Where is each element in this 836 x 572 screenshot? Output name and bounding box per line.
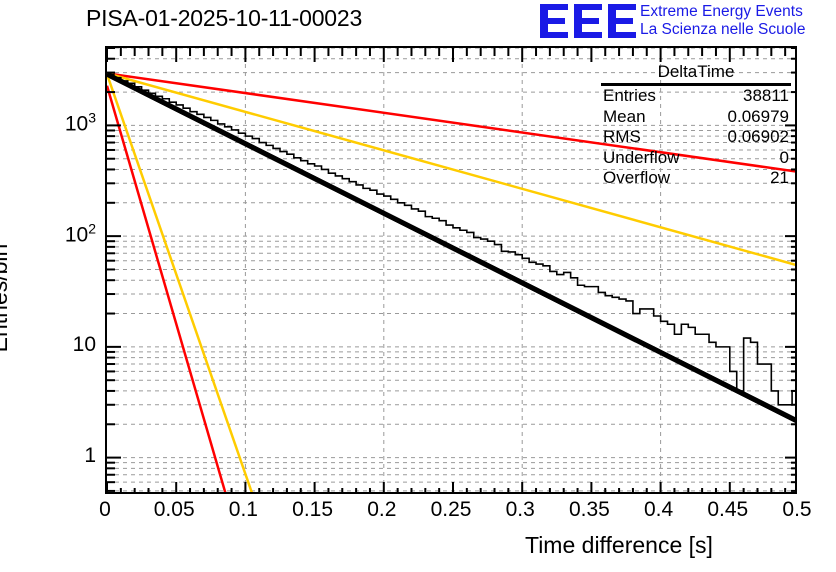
y-tick-mantissa: 10 [65, 224, 88, 247]
stats-row: Entries38811 [601, 86, 791, 107]
stats-key: Mean [603, 107, 646, 128]
x-tick-label: 0.3 [506, 498, 535, 522]
page-title: PISA-01-2025-10-11-00023 [86, 5, 362, 32]
eee-logo-mark [540, 4, 636, 38]
y-tick-mantissa: 10 [65, 113, 88, 136]
stats-value: 0.06979 [728, 107, 789, 128]
eee-logo-text: Extreme Energy Events La Scienza nelle S… [640, 3, 805, 39]
x-tick-label: 0.1 [229, 498, 258, 522]
x-tick-label: 0.4 [644, 498, 673, 522]
stats-row: Underflow0 [601, 148, 791, 169]
stats-value: 21 [770, 168, 789, 189]
x-axis-title: Time difference [s] [525, 532, 713, 559]
x-tick-label: 0 [99, 498, 111, 522]
stats-rows: Entries38811Mean0.06979RMS0.06902Underfl… [601, 86, 791, 189]
x-tick-label: 0.35 [569, 498, 610, 522]
x-tick-label: 0.05 [154, 498, 195, 522]
stats-key: RMS [603, 127, 641, 148]
stats-value: 0.06902 [728, 127, 789, 148]
x-tick-label: 0.5 [782, 498, 811, 522]
y-axis-title: Entries/bin [0, 198, 13, 398]
y-tick-label: 103 [20, 110, 96, 137]
eee-logo-line1: Extreme Energy Events [640, 3, 805, 21]
y-tick-label: 10 [20, 333, 96, 357]
eee-logo-line2: La Scienza nelle Scuole [640, 21, 805, 39]
stats-box: DeltaTime Entries38811Mean0.06979RMS0.06… [601, 62, 791, 189]
stats-row: RMS0.06902 [601, 127, 791, 148]
stats-value: 38811 [743, 86, 789, 107]
y-tick-label: 1 [20, 444, 96, 468]
stats-title: DeltaTime [601, 62, 791, 86]
y-tick-mantissa: 10 [73, 333, 96, 356]
eee-logo: Extreme Energy Events La Scienza nelle S… [540, 2, 836, 42]
stats-row: Mean0.06979 [601, 107, 791, 128]
stats-value: 0 [780, 148, 789, 169]
stats-key: Underflow [603, 148, 680, 169]
x-tick-label: 0.25 [431, 498, 472, 522]
y-tick-exponent: 3 [88, 110, 96, 126]
x-tick-label: 0.2 [367, 498, 396, 522]
stats-key: Overflow [603, 168, 670, 189]
x-tick-label: 0.45 [707, 498, 748, 522]
root-canvas: PISA-01-2025-10-11-00023 Extreme Energy … [0, 0, 836, 572]
y-tick-label: 102 [20, 221, 96, 248]
y-tick-exponent: 2 [88, 221, 96, 237]
x-tick-label: 0.15 [292, 498, 333, 522]
y-tick-mantissa: 1 [84, 444, 96, 467]
fit-line [107, 86, 226, 494]
stats-key: Entries [603, 86, 656, 107]
stats-row: Overflow21 [601, 168, 791, 189]
